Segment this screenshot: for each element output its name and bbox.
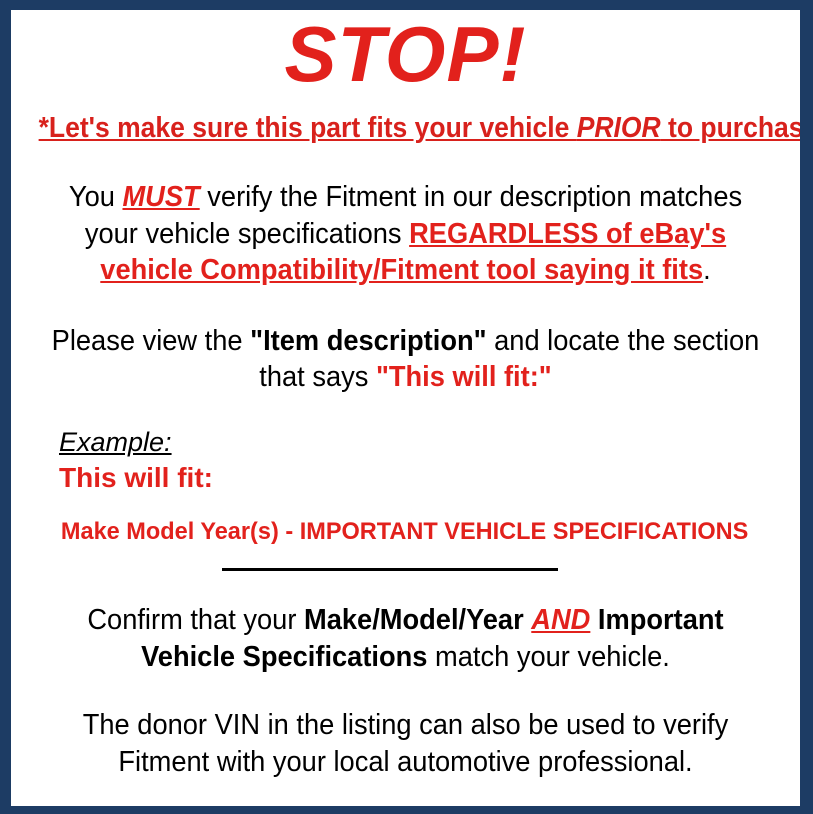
section-divider <box>222 568 558 571</box>
example-this-will-fit: This will fit: <box>59 458 800 495</box>
verify-must-emphasis: MUST <box>122 181 199 213</box>
subheading-emphasis-prior: PRIOR <box>577 112 661 144</box>
example-label-row: Example: <box>59 426 800 458</box>
stop-heading: STOP! <box>11 10 800 92</box>
confirm-make-model-year-emphasis: Make/Model/Year <box>304 604 524 636</box>
fitment-notice-frame: STOP! *Let's make sure this part fits yo… <box>0 0 813 814</box>
confirm-lead: Confirm that your <box>87 604 304 636</box>
paragraph-vin: The donor VIN in the listing can also be… <box>35 675 777 780</box>
thanks-line: Thank you for confirming Fitment! <box>31 780 781 806</box>
subheading-part2: to purchasing* <box>661 112 800 144</box>
subheading-part1: *Let's make sure this part fits your veh… <box>39 112 577 144</box>
notice-card: STOP! *Let's make sure this part fits yo… <box>11 10 800 806</box>
example-spec-line: Make Model Year(s) - IMPORTANT VEHICLE S… <box>59 495 770 546</box>
view-this-will-fit-emphasis: "This will fit:" <box>376 361 552 393</box>
example-label: Example: <box>59 426 172 458</box>
confirm-tail: match your vehicle. <box>427 641 669 673</box>
paragraph-confirm: Confirm that your Make/Model/Year AND Im… <box>35 572 777 675</box>
confirm-and-emphasis: AND <box>531 604 590 636</box>
paragraph-view: Please view the "Item description" and l… <box>35 289 777 396</box>
subheading: *Let's make sure this part fits your veh… <box>39 92 773 145</box>
verify-tail: . <box>703 254 711 286</box>
view-item-description-emphasis: "Item description" <box>250 325 486 357</box>
view-lead: Please view the <box>52 325 251 357</box>
divider-wrapper <box>11 546 800 572</box>
verify-lead: You <box>69 181 123 213</box>
paragraph-verify: You MUST verify the Fitment in our descr… <box>35 145 777 289</box>
example-block: Example: This will fit: Make Model Year(… <box>11 396 800 546</box>
